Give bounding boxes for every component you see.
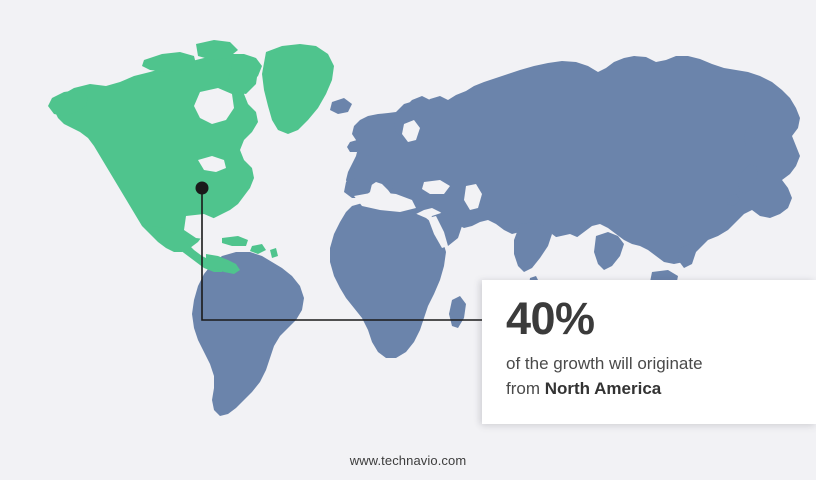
callout-box: 40% of the growth will originate from No… bbox=[482, 280, 816, 424]
infographic-canvas: 40% of the growth will originate from No… bbox=[0, 0, 816, 480]
callout-line2-prefix: from bbox=[506, 379, 545, 398]
callout-description-line-2: from North America bbox=[506, 376, 794, 401]
callout-description-line-1: of the growth will originate bbox=[506, 351, 794, 376]
callout-value: 40% bbox=[506, 296, 794, 342]
callout-region-name: North America bbox=[545, 379, 662, 398]
footer-bar: www.technavio.com bbox=[0, 440, 816, 480]
footer-url: www.technavio.com bbox=[350, 453, 467, 468]
